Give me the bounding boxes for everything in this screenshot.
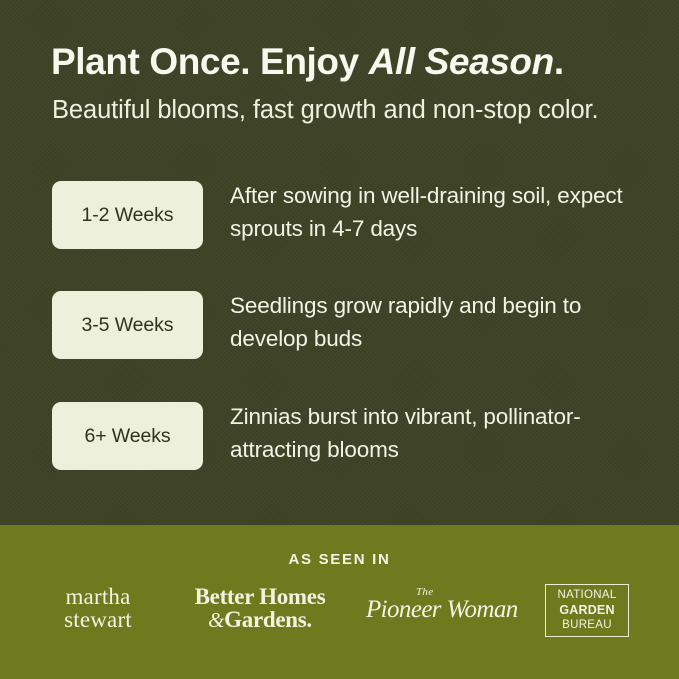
ngb-logo-line1: NATIONAL (557, 588, 616, 602)
timeline-stage: 6+ Weeks Zinnias burst into vibrant, pol… (52, 402, 652, 470)
martha-stewart-logo-line2: stewart (50, 609, 146, 632)
bhg-logo-line1: Better Homes (184, 585, 336, 608)
the-pioneer-woman-logo: The Pioneer Woman (366, 587, 512, 631)
bhg-logo-line2-text: Gardens. (224, 607, 312, 632)
headline-emphasis: All Season (369, 41, 554, 82)
press-logo-row: martha stewart Better Homes &Gardens. Th… (0, 583, 679, 679)
timeline-stage: 3-5 Weeks Seedlings grow rapidly and beg… (52, 291, 652, 359)
stage-badge: 6+ Weeks (52, 402, 203, 470)
pioneer-woman-main-word: Pioneer Woman (366, 596, 512, 624)
headline-part1: Plant Once. Enjoy (51, 41, 369, 82)
hero-panel: Plant Once. Enjoy All Season. Beautiful … (0, 0, 679, 525)
page-subtitle: Beautiful blooms, fast growth and non-st… (52, 96, 599, 125)
ngb-logo-line3: BUREAU (562, 618, 612, 632)
stage-description: After sowing in well-draining soil, expe… (230, 179, 660, 246)
stage-badge: 3-5 Weeks (52, 291, 203, 359)
stage-badge-label: 6+ Weeks (84, 425, 170, 448)
timeline-stage: 1-2 Weeks After sowing in well-draining … (52, 181, 652, 249)
national-garden-bureau-logo: NATIONAL GARDEN BUREAU (545, 584, 629, 637)
bhg-logo-line2: &Gardens. (184, 608, 336, 631)
as-seen-in-footer: AS SEEN IN martha stewart Better Homes &… (0, 525, 679, 679)
as-seen-in-heading: AS SEEN IN (0, 551, 679, 568)
ampersand-glyph: & (208, 608, 224, 632)
page-title: Plant Once. Enjoy All Season. (51, 41, 564, 82)
martha-stewart-logo-line1: martha (50, 586, 146, 609)
stage-badge: 1-2 Weeks (52, 181, 203, 249)
stage-badge-label: 1-2 Weeks (82, 204, 174, 227)
zinnia-growth-timeline-infographic: Plant Once. Enjoy All Season. Beautiful … (0, 0, 679, 679)
headline-part2: . (554, 41, 564, 82)
stage-description: Zinnias burst into vibrant, pollinator-a… (230, 400, 660, 467)
martha-stewart-logo: martha stewart (50, 586, 146, 631)
ngb-logo-line2: GARDEN (559, 603, 614, 619)
stage-badge-label: 3-5 Weeks (82, 314, 174, 337)
better-homes-and-gardens-logo: Better Homes &Gardens. (184, 585, 336, 631)
stage-description: Seedlings grow rapidly and begin to deve… (230, 289, 660, 356)
